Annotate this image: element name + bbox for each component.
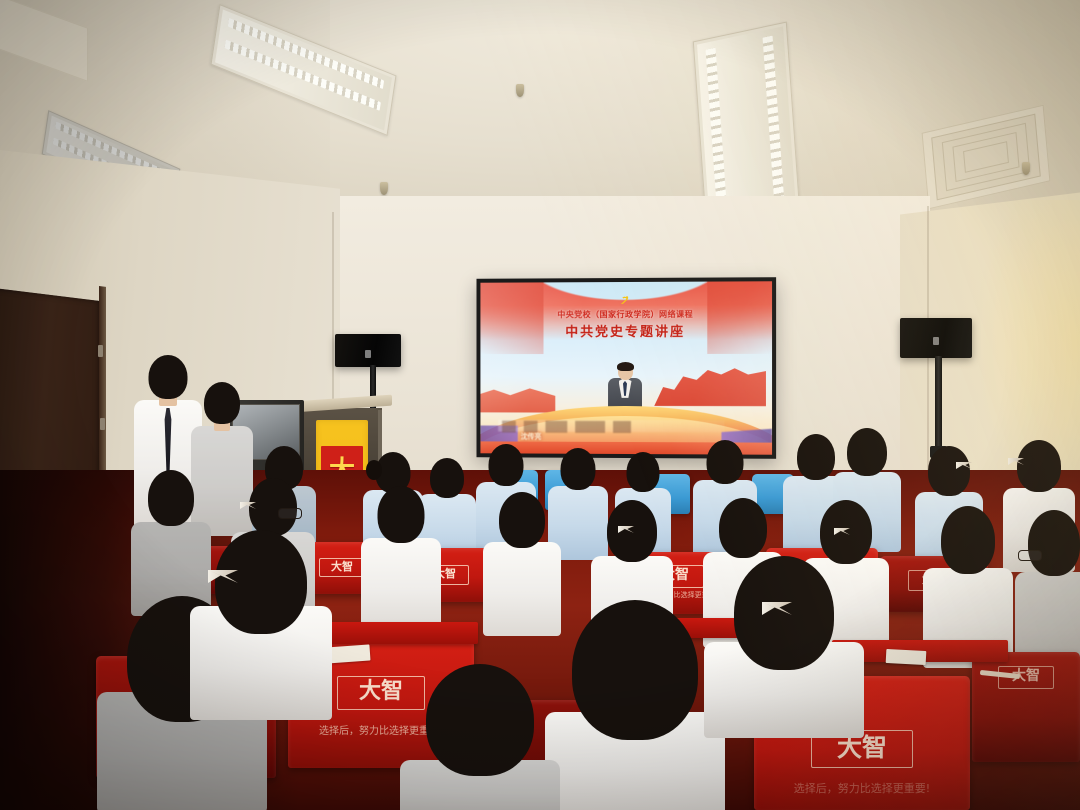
head xyxy=(215,530,307,634)
head xyxy=(499,492,545,548)
screen-lecture-title: 中共党史专题讲座 xyxy=(480,321,772,341)
speaker-cabinet xyxy=(900,318,972,358)
sprinkler-head xyxy=(516,84,524,97)
audience-member xyxy=(1014,510,1080,670)
head xyxy=(707,440,744,484)
audience-member xyxy=(358,486,444,628)
head xyxy=(561,448,596,490)
head xyxy=(204,382,240,424)
head xyxy=(820,500,872,564)
cpc-emblem-icon xyxy=(618,293,632,307)
head xyxy=(607,500,657,562)
head xyxy=(426,664,534,776)
head xyxy=(847,428,887,476)
conference-room-photo: 中央党校（国家行政学院）网络课程 中共党史专题讲座 沈传亮 xyxy=(0,0,1080,810)
audience-member xyxy=(700,556,868,732)
sprinkler-head xyxy=(380,182,388,195)
head xyxy=(378,486,425,543)
handout-paper[interactable] xyxy=(886,649,927,665)
head xyxy=(719,498,767,558)
screen-lecturer-name: 沈传亮 xyxy=(521,431,542,441)
sprinkler-head xyxy=(1022,162,1030,175)
eyeglasses xyxy=(1018,550,1042,561)
screen-course-header: 中央党校（国家行政学院）网络课程 xyxy=(480,308,772,320)
head xyxy=(627,452,660,492)
door-hinge xyxy=(100,418,105,430)
head xyxy=(928,446,970,496)
head xyxy=(149,355,188,399)
speaker-cabinet xyxy=(335,334,401,367)
head xyxy=(572,600,698,740)
chair-front-row[interactable]: 大智 xyxy=(972,652,1080,762)
led-display: 中央党校（国家行政学院）网络课程 中共党史专题讲座 沈传亮 xyxy=(477,277,777,459)
screen-lecturer-figure xyxy=(602,363,648,409)
led-display-content: 中央党校（国家行政学院）网络课程 中共党史专题讲座 沈传亮 xyxy=(480,281,772,454)
head xyxy=(734,556,834,670)
hair-bun xyxy=(366,460,382,480)
chair-tagline: 选择后，努力比选择更重要! xyxy=(794,780,930,796)
head xyxy=(1017,440,1061,492)
head xyxy=(249,478,297,536)
eyeglasses xyxy=(278,508,302,519)
audience-member xyxy=(396,664,564,810)
door-hinge xyxy=(98,345,103,357)
head xyxy=(489,444,524,486)
audience-member xyxy=(186,530,336,720)
head xyxy=(1028,510,1080,576)
head xyxy=(941,506,995,574)
torso xyxy=(361,538,441,632)
head xyxy=(148,470,194,526)
